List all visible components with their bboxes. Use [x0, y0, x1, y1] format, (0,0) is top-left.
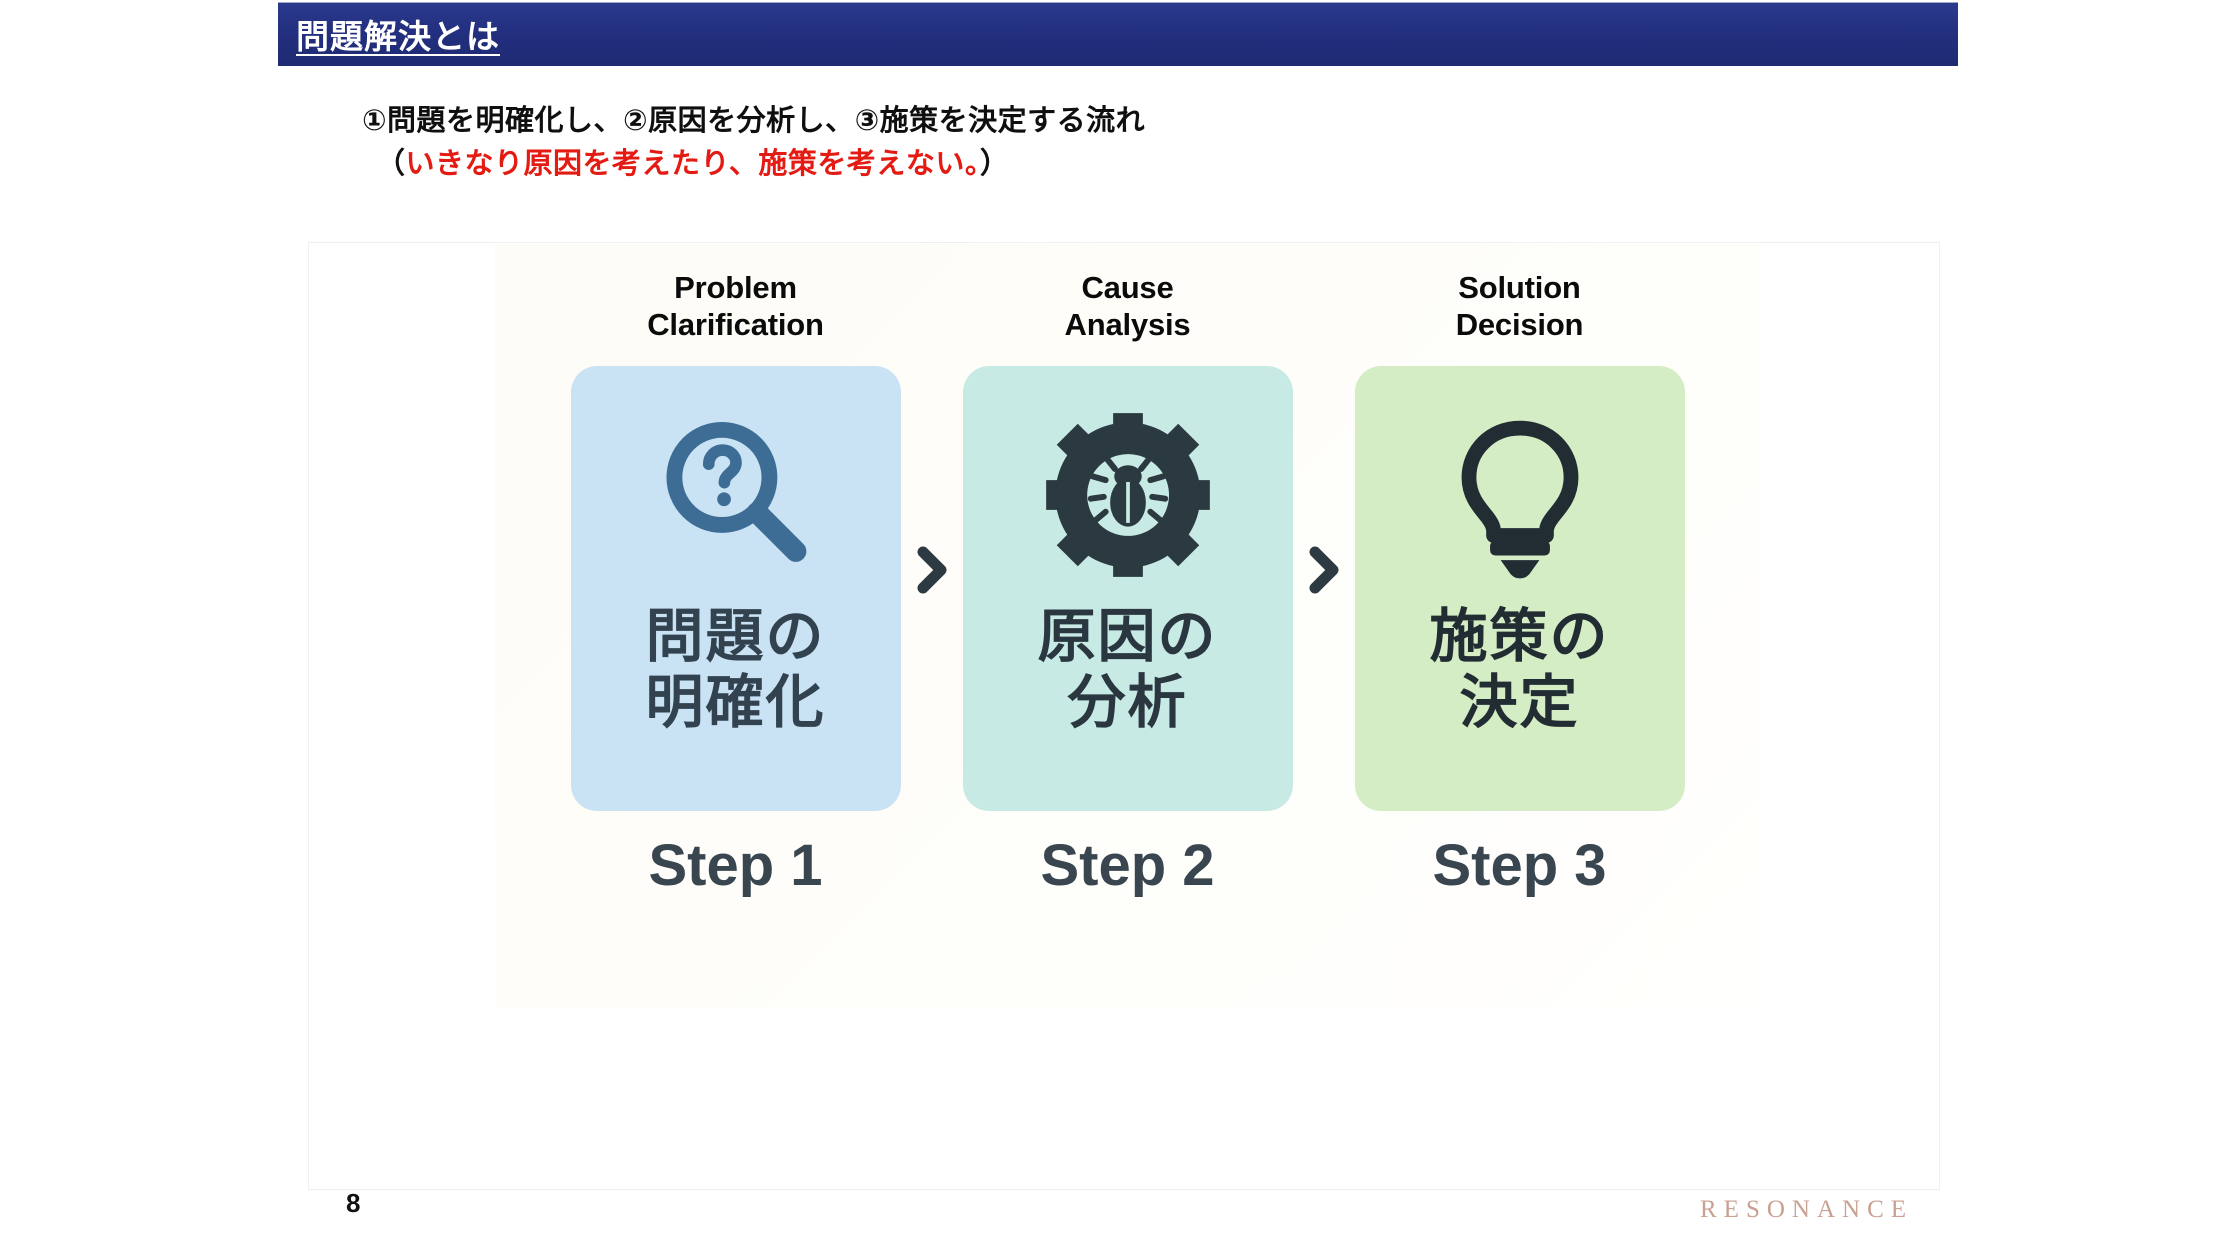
page-number: 8	[346, 1188, 360, 1219]
step-1-tile[interactable]: 問題の 明確化	[571, 366, 901, 811]
step-3-japanese-line-1: 施策の	[1429, 604, 1609, 669]
lead-paragraph: ①問題を明確化し、②原因を分析し、③施策を決定する流れ （いきなり原因を考えたり…	[362, 100, 1145, 186]
step-3-english-line-1: Solution	[1458, 270, 1580, 305]
step-2-tile[interactable]: 原因の 分析	[963, 366, 1293, 811]
page-title: 問題解決とは	[296, 10, 500, 58]
step-2-japanese-label: 原因の 分析	[1037, 604, 1217, 736]
magnifier-question-icon	[648, 400, 824, 590]
process-step-1[interactable]: Problem Clarification 問題の 明確化	[571, 270, 901, 895]
process-flow-row: Problem Clarification 問題の 明確化	[495, 244, 1760, 1009]
step-3-english-line-2: Decision	[1456, 307, 1584, 342]
process-flow-diagram: Problem Clarification 問題の 明確化	[495, 244, 1760, 1009]
step-1-english-line-1: Problem	[674, 270, 797, 305]
process-step-3[interactable]: Solution Decision 施策の 決定	[1355, 270, 1685, 895]
step-2-english-line-2: Analysis	[1065, 307, 1191, 342]
step-2-japanese-line-1: 原因の	[1037, 604, 1217, 669]
resonance-logo: RESONANCE	[1700, 1196, 1913, 1224]
step-3-tile[interactable]: 施策の 決定	[1355, 366, 1685, 811]
step-1-japanese-line-2: 明確化	[645, 670, 825, 735]
chevron-right-icon-1	[901, 544, 963, 596]
lead-paren-close: ）	[980, 148, 1010, 180]
lightbulb-icon	[1432, 400, 1608, 590]
step-2-english-line-1: Cause	[1081, 270, 1173, 305]
process-step-2[interactable]: Cause Analysis	[963, 270, 1293, 895]
step-1-english-label: Problem Clarification	[647, 270, 824, 344]
step-2-japanese-line-2: 分析	[1067, 670, 1187, 735]
gear-bug-icon	[1035, 400, 1221, 590]
step-3-japanese-line-2: 決定	[1459, 670, 1579, 735]
step-2-number-label: Step 2	[1040, 837, 1214, 895]
slide-root: 問題解決とは ①問題を明確化し、②原因を分析し、③施策を決定する流れ （いきなり…	[0, 0, 2240, 1260]
step-3-english-label: Solution Decision	[1456, 270, 1584, 344]
step-1-english-line-2: Clarification	[647, 307, 824, 342]
step-1-number-label: Step 1	[648, 837, 822, 895]
lead-line-2: （いきなり原因を考えたり、施策を考えない。）	[362, 143, 1145, 186]
lead-line-1: ①問題を明確化し、②原因を分析し、③施策を決定する流れ	[362, 100, 1145, 143]
lead-warning-text: いきなり原因を考えたり、施策を考えない。	[406, 148, 980, 180]
step-3-japanese-label: 施策の 決定	[1429, 604, 1609, 736]
slide-header-bar: 問題解決とは	[278, 2, 1958, 66]
lead-paren-open: （	[376, 148, 406, 180]
step-1-japanese-line-1: 問題の	[645, 604, 825, 669]
chevron-right-icon-2	[1293, 544, 1355, 596]
step-3-number-label: Step 3	[1432, 837, 1606, 895]
step-1-japanese-label: 問題の 明確化	[645, 604, 825, 736]
step-2-english-label: Cause Analysis	[1065, 270, 1191, 344]
